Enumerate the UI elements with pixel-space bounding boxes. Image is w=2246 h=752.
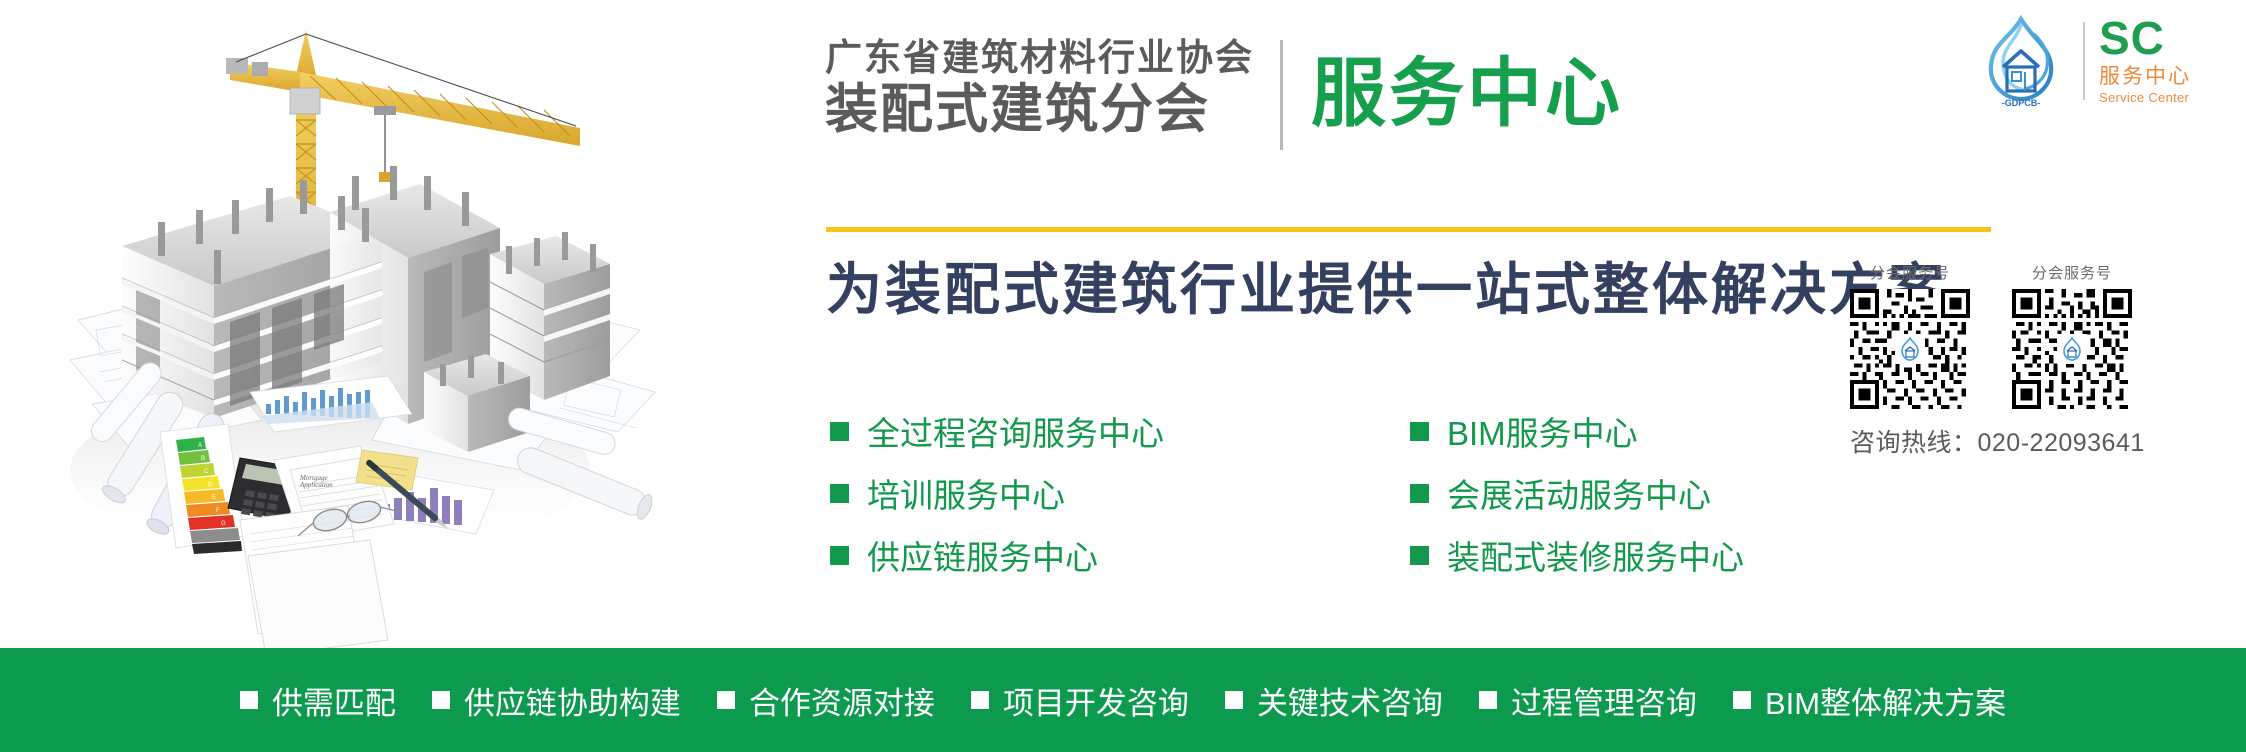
- service-item[interactable]: 装配式装修服务中心: [1410, 524, 1990, 586]
- square-bullet-icon: [1410, 484, 1429, 503]
- svg-text:E: E: [212, 495, 216, 501]
- qr-embedded-logo-icon: [2057, 334, 2087, 364]
- service-item-label: 培训服务中心: [867, 469, 1065, 517]
- qr-code-image[interactable]: [2012, 289, 2132, 409]
- square-bullet-icon: [432, 691, 450, 709]
- bottom-bar-item-label: 合作资源对接: [749, 678, 935, 723]
- square-bullet-icon: [240, 691, 258, 709]
- service-item[interactable]: 培训服务中心: [830, 462, 1410, 524]
- association-line-1: 广东省建筑材料行业协会: [825, 36, 1254, 80]
- hero-construction-illustration: ABC DEF G: [0, 0, 660, 648]
- square-bullet-icon: [1410, 422, 1429, 441]
- square-bullet-icon: [1479, 691, 1497, 709]
- service-item[interactable]: 会展活动服务中心: [1410, 462, 1990, 524]
- square-bullet-icon: [1225, 691, 1243, 709]
- svg-text:G: G: [221, 521, 226, 527]
- sc-abbreviation: SC: [2099, 15, 2191, 61]
- sc-logotype: SC 服务中心 Service Center: [2099, 15, 2191, 106]
- qr-cell: 分会服务号: [2012, 262, 2132, 409]
- bottom-keyword-bar: 供需匹配 供应链协助构建 合作资源对接 项目开发咨询 关键技术咨询 过程管理咨询…: [0, 648, 2246, 752]
- square-bullet-icon: [1733, 691, 1751, 709]
- square-bullet-icon: [830, 422, 849, 441]
- bottom-bar-item-label: 供应链协助构建: [464, 678, 681, 723]
- bottom-bar-item[interactable]: 关键技术咨询: [1225, 678, 1443, 723]
- yellow-divider: [826, 227, 1991, 232]
- qr-caption: 分会服务号: [1850, 262, 1970, 283]
- bottom-bar-item-label: 过程管理咨询: [1511, 678, 1697, 723]
- svg-text:D: D: [208, 482, 213, 488]
- svg-text:B: B: [201, 456, 205, 462]
- svg-text:Application: Application: [299, 481, 333, 489]
- service-item-label: 供应链服务中心: [867, 531, 1098, 579]
- square-bullet-icon: [830, 484, 849, 503]
- sc-chinese-label: 服务中心: [2099, 64, 2191, 90]
- qr-caption: 分会服务号: [2012, 262, 2132, 283]
- svg-text:F: F: [216, 508, 220, 514]
- bottom-bar-item-label: 供需匹配: [272, 678, 396, 723]
- content-region: 广东省建筑材料行业协会 装配式建筑分会 服务中心 为装配式建筑行业提供一站式整体…: [660, 0, 2246, 648]
- bottom-bar-item-label: 项目开发咨询: [1003, 678, 1189, 723]
- service-item[interactable]: 供应链服务中心: [830, 524, 1410, 586]
- qr-row: 分会服务号: [1850, 262, 2230, 409]
- service-item[interactable]: 全过程咨询服务中心: [830, 400, 1410, 462]
- logo-divider: [2083, 22, 2085, 100]
- association-line-2: 装配式建筑分会: [825, 80, 1254, 139]
- service-center-banner: ABC DEF G: [0, 0, 2246, 752]
- svg-text:C: C: [204, 469, 209, 475]
- qr-cell: 分会服务号: [1850, 262, 1970, 409]
- svg-text:A: A: [198, 443, 202, 449]
- service-item-label: 会展活动服务中心: [1447, 469, 1711, 517]
- main-headline: 为装配式建筑行业提供一站式整体解决方案: [826, 258, 1947, 322]
- bottom-bar-item[interactable]: 项目开发咨询: [971, 678, 1189, 723]
- title-vertical-divider: [1280, 40, 1283, 150]
- qr-embedded-logo-icon: [1895, 334, 1925, 364]
- bottom-bar-item[interactable]: 过程管理咨询: [1479, 678, 1697, 723]
- association-name: 广东省建筑材料行业协会 装配式建筑分会: [825, 36, 1280, 139]
- bottom-bar-item-label: BIM整体解决方案: [1765, 678, 2006, 723]
- sc-english-label: Service Center: [2099, 90, 2191, 106]
- qr-contact-block: 分会服务号: [1850, 262, 2230, 459]
- square-bullet-icon: [1410, 546, 1429, 565]
- square-bullet-icon: [971, 691, 989, 709]
- hero-artwork-svg: ABC DEF G: [0, 0, 660, 648]
- brand-logo[interactable]: -GDPCB- SC 服务中心 Service Center: [1973, 8, 2238, 113]
- bottom-bar-item[interactable]: 供需匹配: [240, 678, 396, 723]
- service-item-label: 装配式装修服务中心: [1447, 531, 1744, 579]
- service-item-label: BIM服务中心: [1447, 407, 1638, 455]
- bottom-bar-item[interactable]: BIM整体解决方案: [1733, 678, 2006, 723]
- gdpcb-wordmark: -GDPCB-: [2002, 98, 2041, 108]
- qr-code-image[interactable]: [1850, 289, 1970, 409]
- title-block: 广东省建筑材料行业协会 装配式建筑分会 服务中心: [825, 36, 1623, 150]
- service-list: 全过程咨询服务中心 BIM服务中心 培训服务中心 会展活动服务中心 供应链服务中…: [830, 400, 1990, 586]
- square-bullet-icon: [717, 691, 735, 709]
- square-bullet-icon: [830, 546, 849, 565]
- bottom-bar-item[interactable]: 供应链协助构建: [432, 678, 681, 723]
- bottom-bar-item[interactable]: 合作资源对接: [717, 678, 935, 723]
- gdpcb-flame-house-icon: -GDPCB-: [1973, 13, 2069, 109]
- service-center-heading: 服务中心: [1311, 56, 1623, 131]
- service-item-label: 全过程咨询服务中心: [867, 407, 1164, 455]
- hotline-text: 咨询热线：020-22093641: [1850, 423, 2230, 459]
- bottom-bar-item-label: 关键技术咨询: [1257, 678, 1443, 723]
